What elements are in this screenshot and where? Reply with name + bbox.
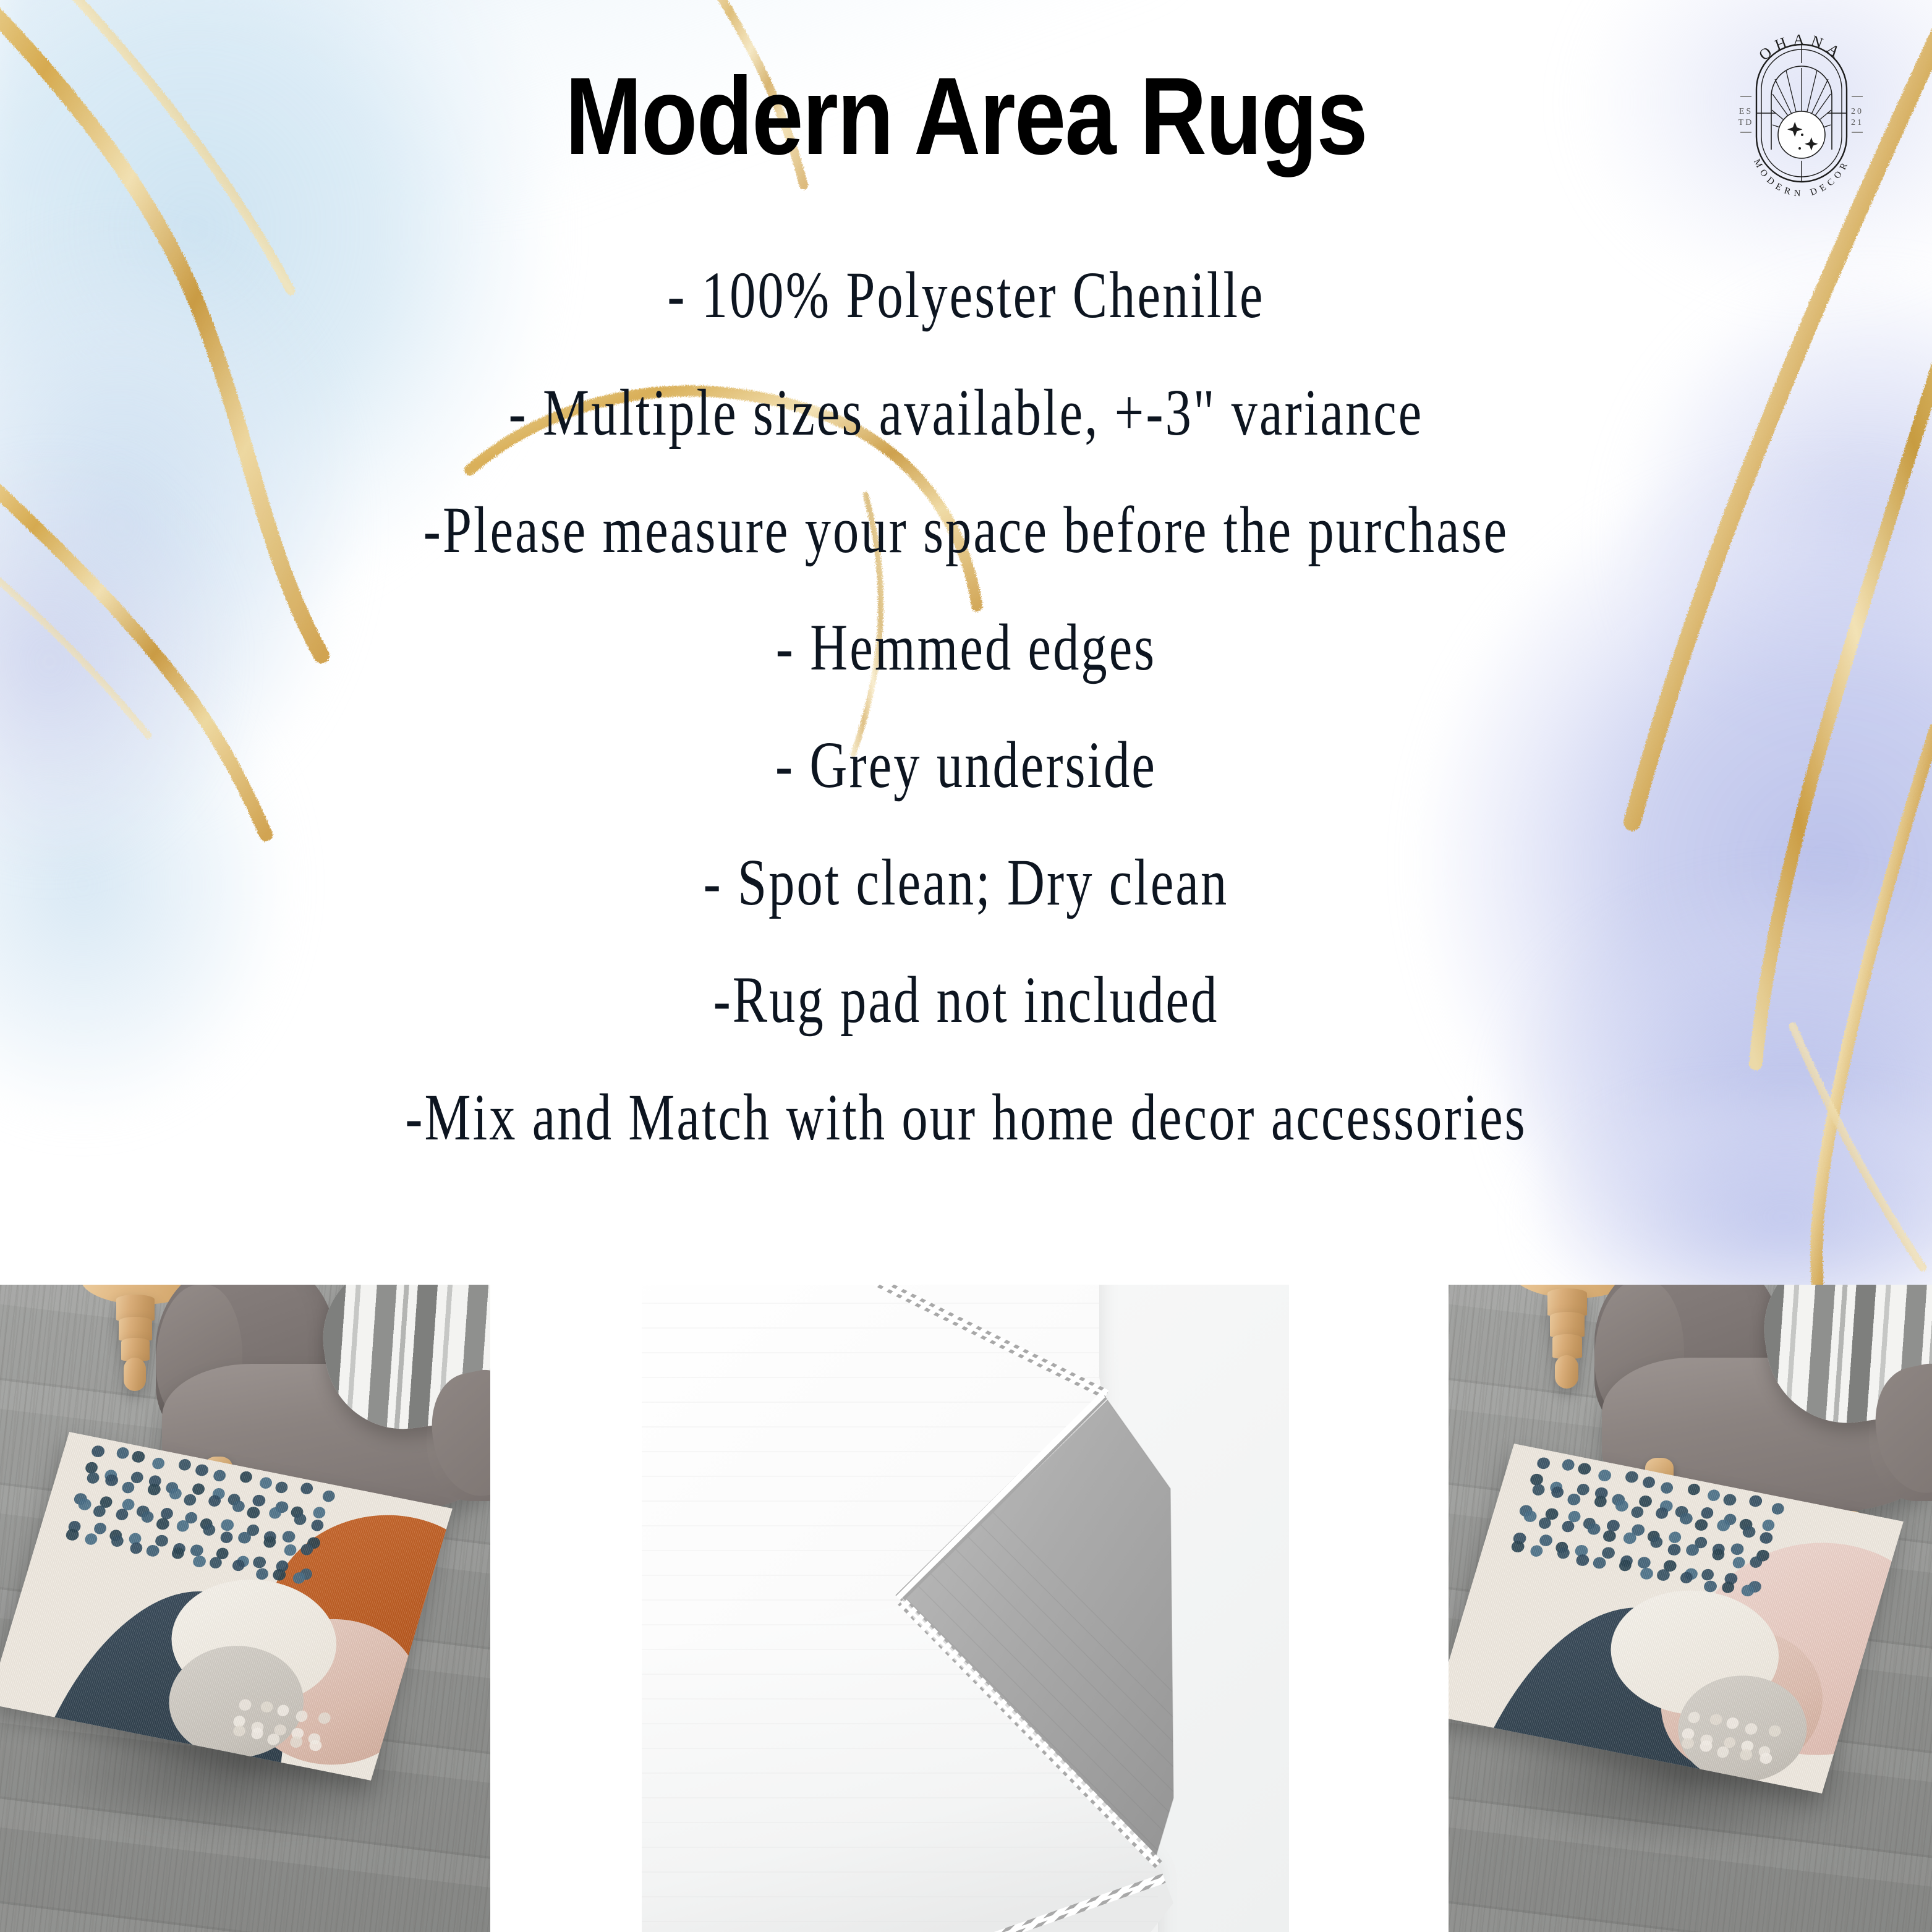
logo-year-line2: 21 <box>1851 118 1863 127</box>
bullet-item: -Mix and Match with our home decor acces… <box>116 1052 1816 1183</box>
hero-text-section: OHANA MODERN DECOR ES TD 20 21 Modern Ar… <box>0 0 1932 1285</box>
product-photo-blush-room[interactable] <box>1449 1285 1932 1932</box>
product-infographic-poster: OHANA MODERN DECOR ES TD 20 21 Modern Ar… <box>0 0 1932 1932</box>
side-table-leg-shaft <box>1555 1355 1578 1389</box>
bullet-item: - Spot clean; Dry clean <box>116 817 1816 948</box>
bullet-item: - 100% Polyester Chenille <box>116 229 1816 361</box>
bullet-item: - Grey underside <box>116 699 1816 831</box>
product-photo-underside[interactable] <box>642 1285 1289 1932</box>
page-title: Modern Area Rugs <box>155 59 1777 174</box>
product-photo-strip <box>0 1285 1932 1932</box>
bullet-item: - Multiple sizes available, +-3" varianc… <box>116 347 1816 479</box>
bullet-item: -Rug pad not included <box>116 934 1816 1066</box>
bullet-item: -Please measure your space before the pu… <box>116 464 1816 596</box>
side-table-leg-shaft <box>124 1358 146 1391</box>
bullet-item: - Hemmed edges <box>116 582 1816 713</box>
folded-rug-illustration <box>642 1285 1289 1932</box>
feature-bullet-list: - 100% Polyester Chenille - Multiple siz… <box>0 236 1932 1176</box>
product-photo-orange-room[interactable] <box>0 1285 490 1932</box>
logo-year-line1: 20 <box>1851 107 1863 116</box>
